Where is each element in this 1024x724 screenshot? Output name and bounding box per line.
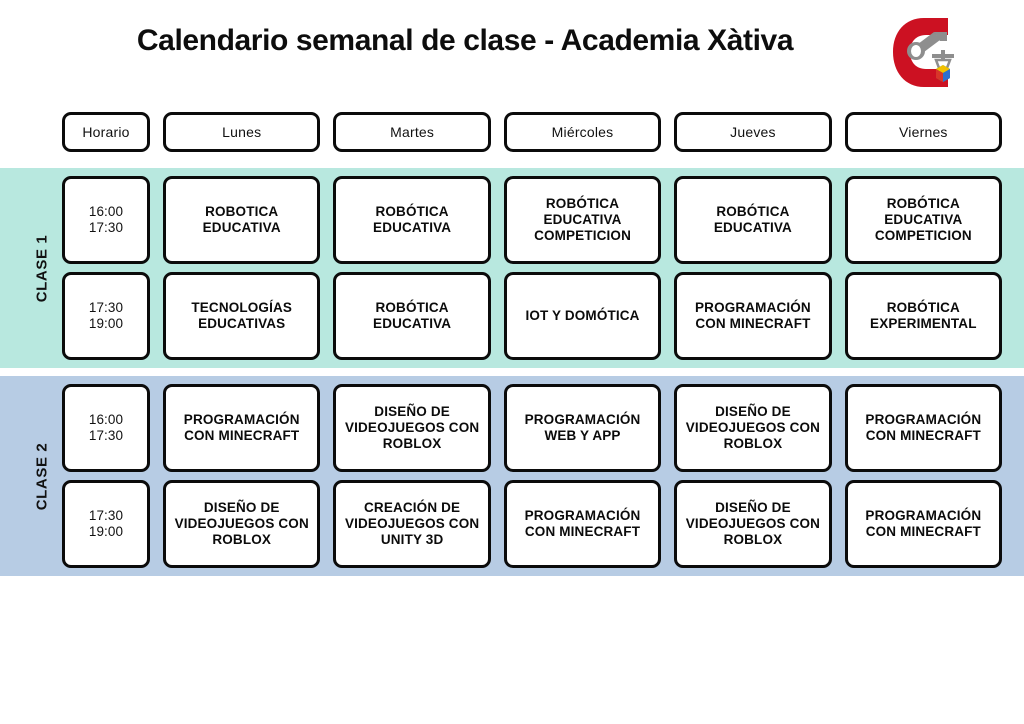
group-label-clase-1: CLASE 1: [22, 176, 62, 360]
subject-cell[interactable]: ROBÓTICA EDUCATIVA COMPETICION: [845, 176, 1002, 264]
group-label-clase-2: CLASE 2: [22, 384, 62, 568]
subject-cell[interactable]: ROBÓTICA EXPERIMENTAL: [845, 272, 1002, 360]
subject-cell[interactable]: IOT Y DOMÓTICA: [504, 272, 661, 360]
subject-cell[interactable]: PROGRAMACIÓN CON MINECRAFT: [845, 384, 1002, 472]
group-label-clase-2-text: CLASE 2: [34, 442, 51, 510]
subject-cell[interactable]: ROBÓTICA EDUCATIVA: [333, 272, 490, 360]
subject-cell[interactable]: DISEÑO DE VIDEOJUEGOS CON ROBLOX: [674, 480, 831, 568]
time-slot-cell: 17:30 19:00: [62, 272, 150, 360]
time-slot-cell: 17:30 19:00: [62, 480, 150, 568]
column-header-viernes: Viernes: [845, 112, 1002, 152]
table-row: 17:30 19:00 TECNOLOGÍAS EDUCATIVAS ROBÓT…: [62, 272, 1002, 360]
page-header: Calendario semanal de clase - Academia X…: [0, 0, 1024, 112]
subject-cell[interactable]: PROGRAMACIÓN WEB Y APP: [504, 384, 661, 472]
subject-cell[interactable]: DISEÑO DE VIDEOJUEGOS CON ROBLOX: [163, 480, 320, 568]
time-slot-cell: 16:00 17:30: [62, 176, 150, 264]
table-row: 16:00 17:30 PROGRAMACIÓN CON MINECRAFT D…: [62, 384, 1002, 472]
column-header-miercoles: Miércoles: [504, 112, 661, 152]
column-header-martes: Martes: [333, 112, 490, 152]
subject-cell[interactable]: PROGRAMACIÓN CON MINECRAFT: [674, 272, 831, 360]
table-row: 17:30 19:00 DISEÑO DE VIDEOJUEGOS CON RO…: [62, 480, 1002, 568]
weekly-schedule-table: Horario Lunes Martes Miércoles Jueves Vi…: [0, 112, 1024, 576]
academia-xativa-logo: [890, 14, 962, 92]
group-band-clase-1: CLASE 1 16:00 17:30 ROBOTICA EDUCATIVA R…: [0, 168, 1024, 368]
subject-cell[interactable]: ROBÓTICA EDUCATIVA: [333, 176, 490, 264]
subject-cell[interactable]: ROBOTICA EDUCATIVA: [163, 176, 320, 264]
column-header-horario: Horario: [62, 112, 150, 152]
subject-cell[interactable]: PROGRAMACIÓN CON MINECRAFT: [163, 384, 320, 472]
time-slot-cell: 16:00 17:30: [62, 384, 150, 472]
column-header-jueves: Jueves: [674, 112, 831, 152]
subject-cell[interactable]: ROBÓTICA EDUCATIVA COMPETICION: [504, 176, 661, 264]
group-label-clase-1-text: CLASE 1: [34, 234, 51, 302]
band-divider: [0, 368, 1024, 376]
subject-cell[interactable]: ROBÓTICA EDUCATIVA: [674, 176, 831, 264]
subject-cell[interactable]: PROGRAMACIÓN CON MINECRAFT: [504, 480, 661, 568]
header-side-spacer: [22, 112, 62, 168]
column-header-lunes: Lunes: [163, 112, 320, 152]
subject-cell[interactable]: DISEÑO DE VIDEOJUEGOS CON ROBLOX: [674, 384, 831, 472]
subject-cell[interactable]: PROGRAMACIÓN CON MINECRAFT: [845, 480, 1002, 568]
group-band-clase-2: CLASE 2 16:00 17:30 PROGRAMACIÓN CON MIN…: [0, 376, 1024, 576]
subject-cell[interactable]: DISEÑO DE VIDEOJUEGOS CON ROBLOX: [333, 384, 490, 472]
page-title: Calendario semanal de clase - Academia X…: [70, 24, 860, 59]
table-header-row: Horario Lunes Martes Miércoles Jueves Vi…: [0, 112, 1024, 168]
table-row: 16:00 17:30 ROBOTICA EDUCATIVA ROBÓTICA …: [62, 176, 1002, 264]
subject-cell[interactable]: TECNOLOGÍAS EDUCATIVAS: [163, 272, 320, 360]
subject-cell[interactable]: CREACIÓN DE VIDEOJUEGOS CON UNITY 3D: [333, 480, 490, 568]
